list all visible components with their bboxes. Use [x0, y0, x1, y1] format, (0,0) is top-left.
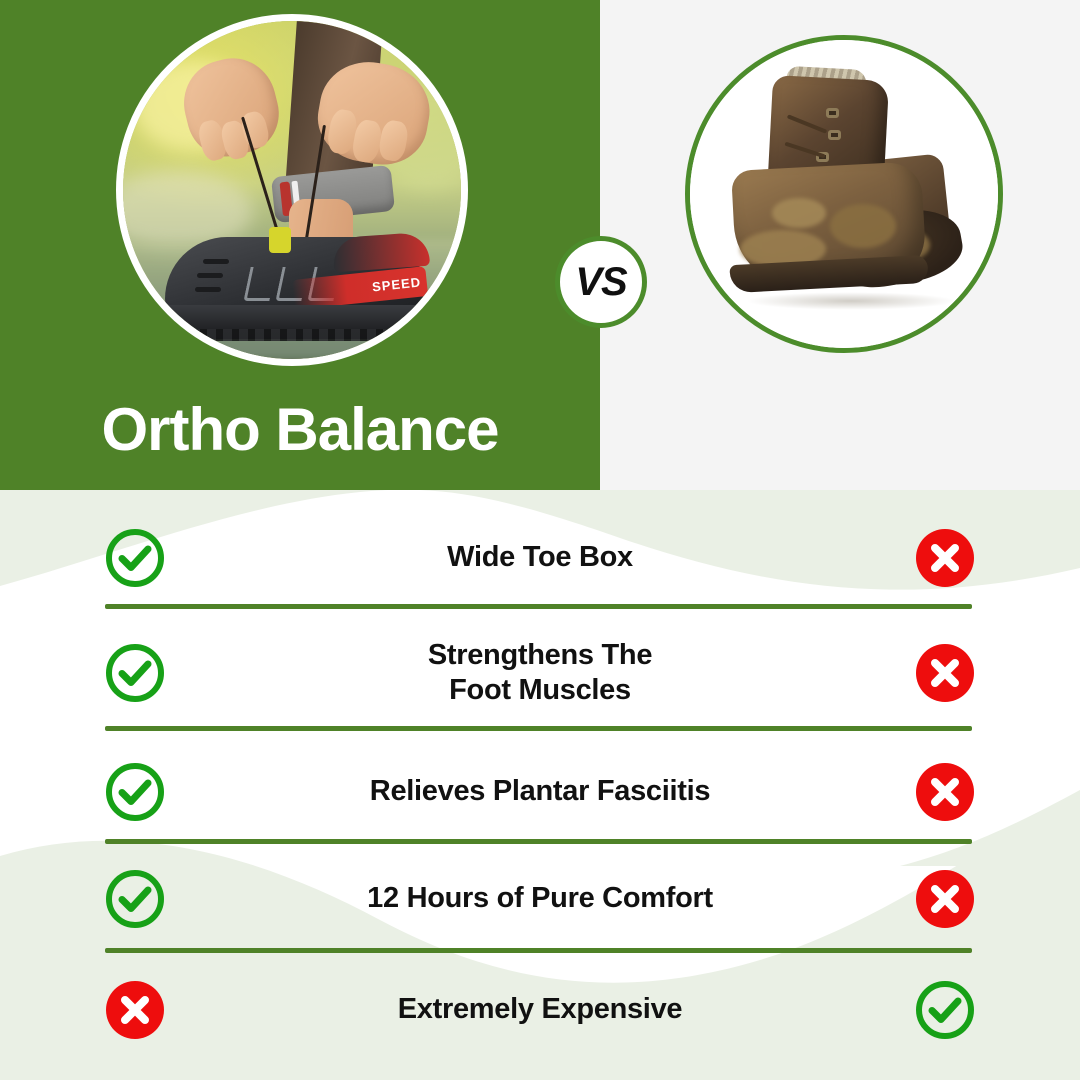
- check-circle-icon: [914, 979, 976, 1041]
- feature-label: Extremely Expensive: [270, 992, 810, 1027]
- boots-status-cell: [810, 527, 1080, 589]
- row-divider: [105, 604, 972, 609]
- boots-scene: [690, 40, 998, 348]
- ortho-status-cell: [0, 642, 270, 704]
- product-panel: SPEED Ortho Balance: [0, 0, 600, 490]
- header-section: SPEED Ortho Balance: [0, 0, 1080, 490]
- cross-circle-icon: [914, 642, 976, 704]
- competitor-image: [685, 35, 1003, 353]
- boots-status-cell: [810, 761, 1080, 823]
- check-circle-icon: [104, 527, 166, 589]
- product-image: SPEED: [116, 14, 468, 366]
- check-circle-icon: [104, 642, 166, 704]
- table-row: 12 Hours of Pure Comfort: [0, 850, 1080, 948]
- feature-label: Relieves Plantar Fasciitis: [270, 774, 810, 809]
- comparison-infographic: SPEED Ortho Balance: [0, 0, 1080, 1080]
- boot-primary: [734, 78, 934, 306]
- competitor-panel: Conventional Boots: [600, 0, 1080, 490]
- feature-label: Wide Toe Box: [270, 540, 810, 575]
- ortho-status-cell: [0, 527, 270, 589]
- table-row: Wide Toe Box: [0, 510, 1080, 606]
- feature-label: 12 Hours of Pure Comfort: [270, 881, 810, 916]
- feature-label: Strengthens The Foot Muscles: [270, 638, 810, 709]
- cross-circle-icon: [104, 979, 166, 1041]
- ortho-status-cell: [0, 979, 270, 1041]
- boots-status-cell: [810, 979, 1080, 1041]
- table-row: Strengthens The Foot Muscles: [0, 618, 1080, 728]
- vs-badge: VS: [555, 236, 647, 328]
- table-row: Relieves Plantar Fasciitis: [0, 742, 1080, 842]
- cross-circle-icon: [914, 868, 976, 930]
- row-divider: [105, 948, 972, 953]
- row-divider: [105, 839, 972, 844]
- comparison-table: Wide Toe Box Strengthens The: [0, 490, 1080, 1080]
- row-divider: [105, 726, 972, 731]
- check-circle-icon: [104, 868, 166, 930]
- vs-label: VS: [575, 260, 626, 305]
- ortho-status-cell: [0, 761, 270, 823]
- cross-circle-icon: [914, 761, 976, 823]
- ortho-status-cell: [0, 868, 270, 930]
- sneaker-scene: SPEED: [123, 21, 461, 359]
- boots-status-cell: [810, 868, 1080, 930]
- feature-rows: Wide Toe Box Strengthens The: [0, 490, 1080, 1080]
- sneaker-illustration: SPEED: [151, 233, 447, 349]
- table-row: Extremely Expensive: [0, 960, 1080, 1060]
- boots-status-cell: [810, 642, 1080, 704]
- check-circle-icon: [104, 761, 166, 823]
- cross-circle-icon: [914, 527, 976, 589]
- product-title: Ortho Balance: [0, 395, 600, 464]
